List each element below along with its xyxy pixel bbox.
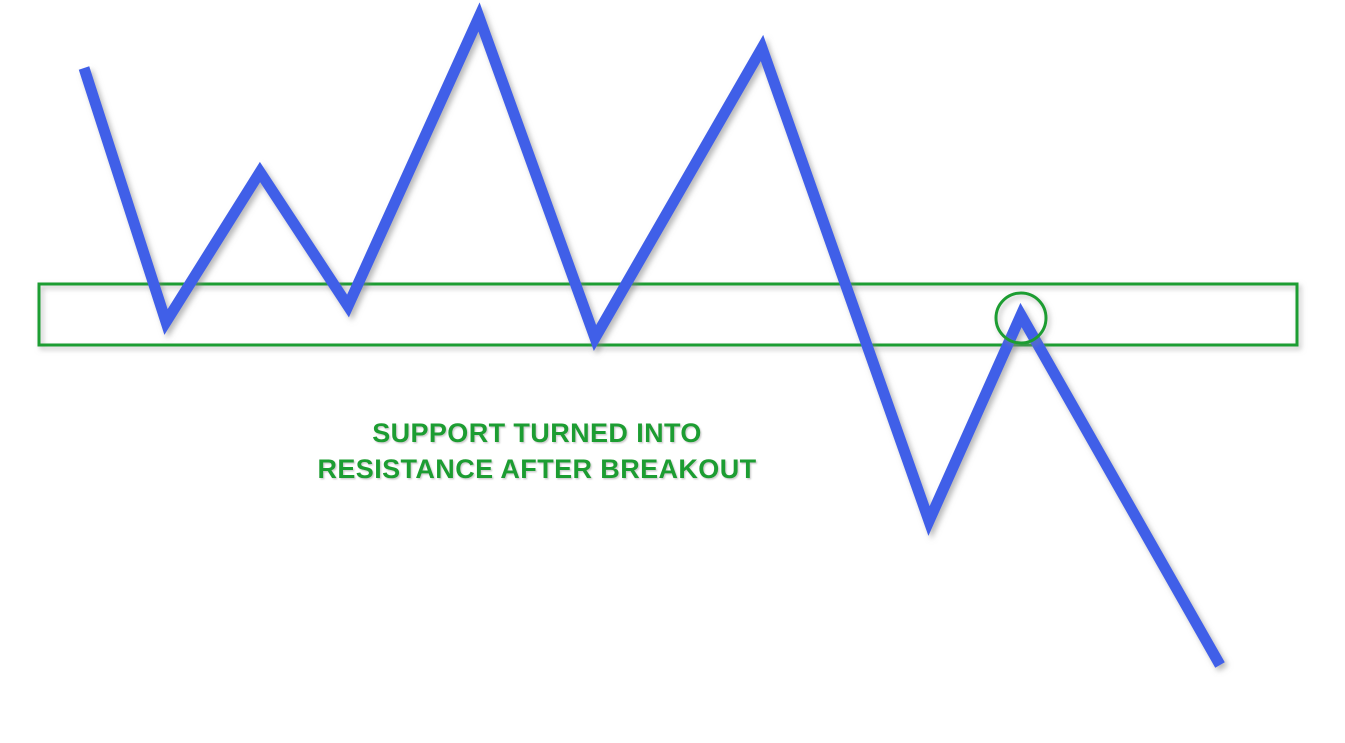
annotation-text-line-2: RESISTANCE AFTER BREAKOUT [317,454,756,484]
price-chart-svg: SUPPORT TURNED INTO RESISTANCE AFTER BRE… [0,0,1345,743]
price-line [84,17,1220,665]
support-resistance-zone [39,284,1297,345]
chart-canvas: SUPPORT TURNED INTO RESISTANCE AFTER BRE… [0,0,1345,743]
annotation-text-line-1: SUPPORT TURNED INTO [372,418,702,448]
